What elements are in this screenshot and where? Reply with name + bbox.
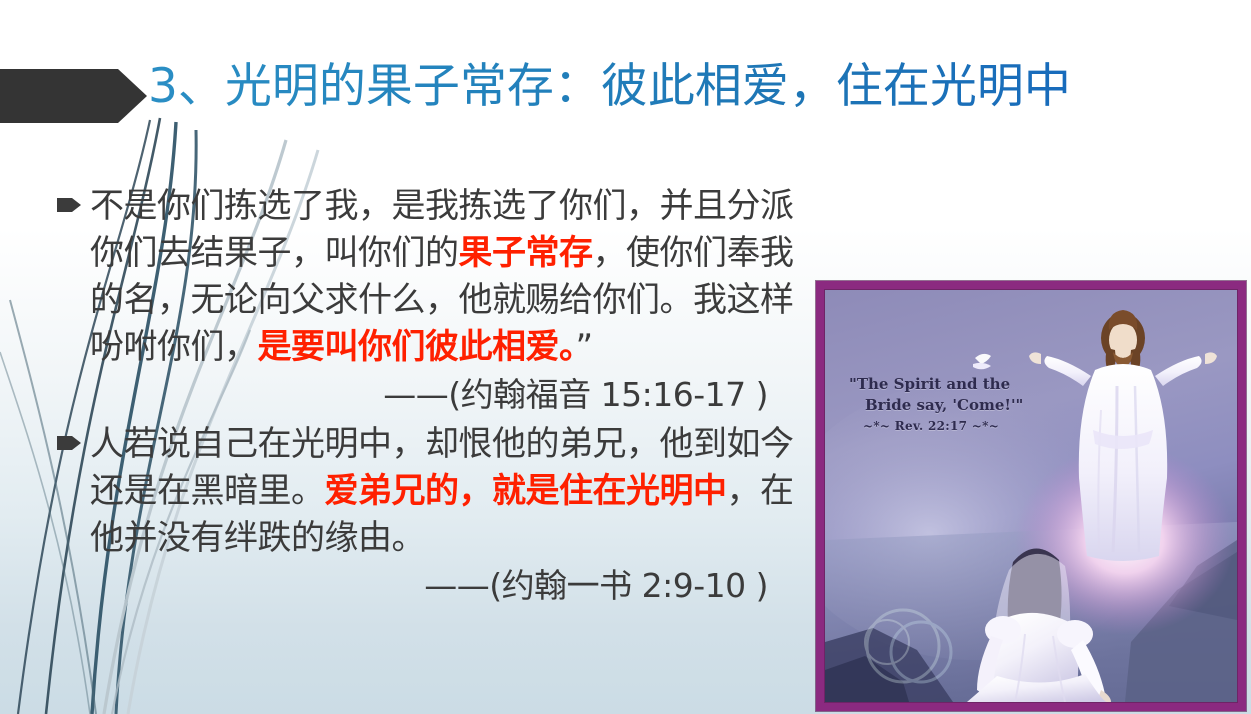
risen-christ-and-bride-illustration: [825, 290, 1237, 702]
picture-frame: "The Spirit and the Bride say, 'Come!'" …: [816, 281, 1246, 711]
paragraph-2-highlight-1: 爱弟兄的，就是住在光明中: [325, 471, 727, 511]
paragraph-1-run-5: ”: [576, 327, 593, 367]
slide-canvas: 3、光明的果子常存：彼此相爱，住在光明中 不是你们拣选了我，是我拣选了你们，并且…: [0, 0, 1251, 714]
paragraph-1-highlight-2: 是要叫你们彼此相爱。: [258, 327, 576, 367]
picture-image: "The Spirit and the Bride say, 'Come!'" …: [824, 289, 1238, 703]
picture-caption-line-2: Bride say, 'Come!'": [849, 395, 1023, 416]
scripture-paragraph-2: 人若说自己在光明中，却恨他的弟兄，他到如今还是在黑暗里。爱弟兄的，就是住在光明中…: [55, 421, 800, 562]
arrow-bullet-icon: [57, 435, 81, 451]
picture-caption: "The Spirit and the Bride say, 'Come!'" …: [849, 374, 1023, 437]
body-content: 不是你们拣选了我，是我拣选了你们，并且分派你们去结果子，叫你们的果子常存，使你们…: [55, 183, 800, 610]
citation-2: ——(约翰一书 2:9-10 ): [55, 562, 800, 610]
citation-1: ——(约翰福音 15:16-17 ): [55, 371, 800, 419]
scripture-paragraph-1: 不是你们拣选了我，是我拣选了你们，并且分派你们去结果子，叫你们的果子常存，使你们…: [55, 183, 800, 371]
picture-caption-line-3: ~*~ Rev. 22:17 ~*~: [849, 416, 1023, 437]
paragraph-1-highlight-1: 果子常存: [459, 233, 593, 273]
page-title: 3、光明的果子常存：彼此相爱，住在光明中: [148, 56, 1238, 122]
title-banner-arrow: [0, 69, 147, 123]
arrow-bullet-icon: [57, 197, 81, 213]
picture-caption-line-1: "The Spirit and the: [849, 374, 1023, 395]
